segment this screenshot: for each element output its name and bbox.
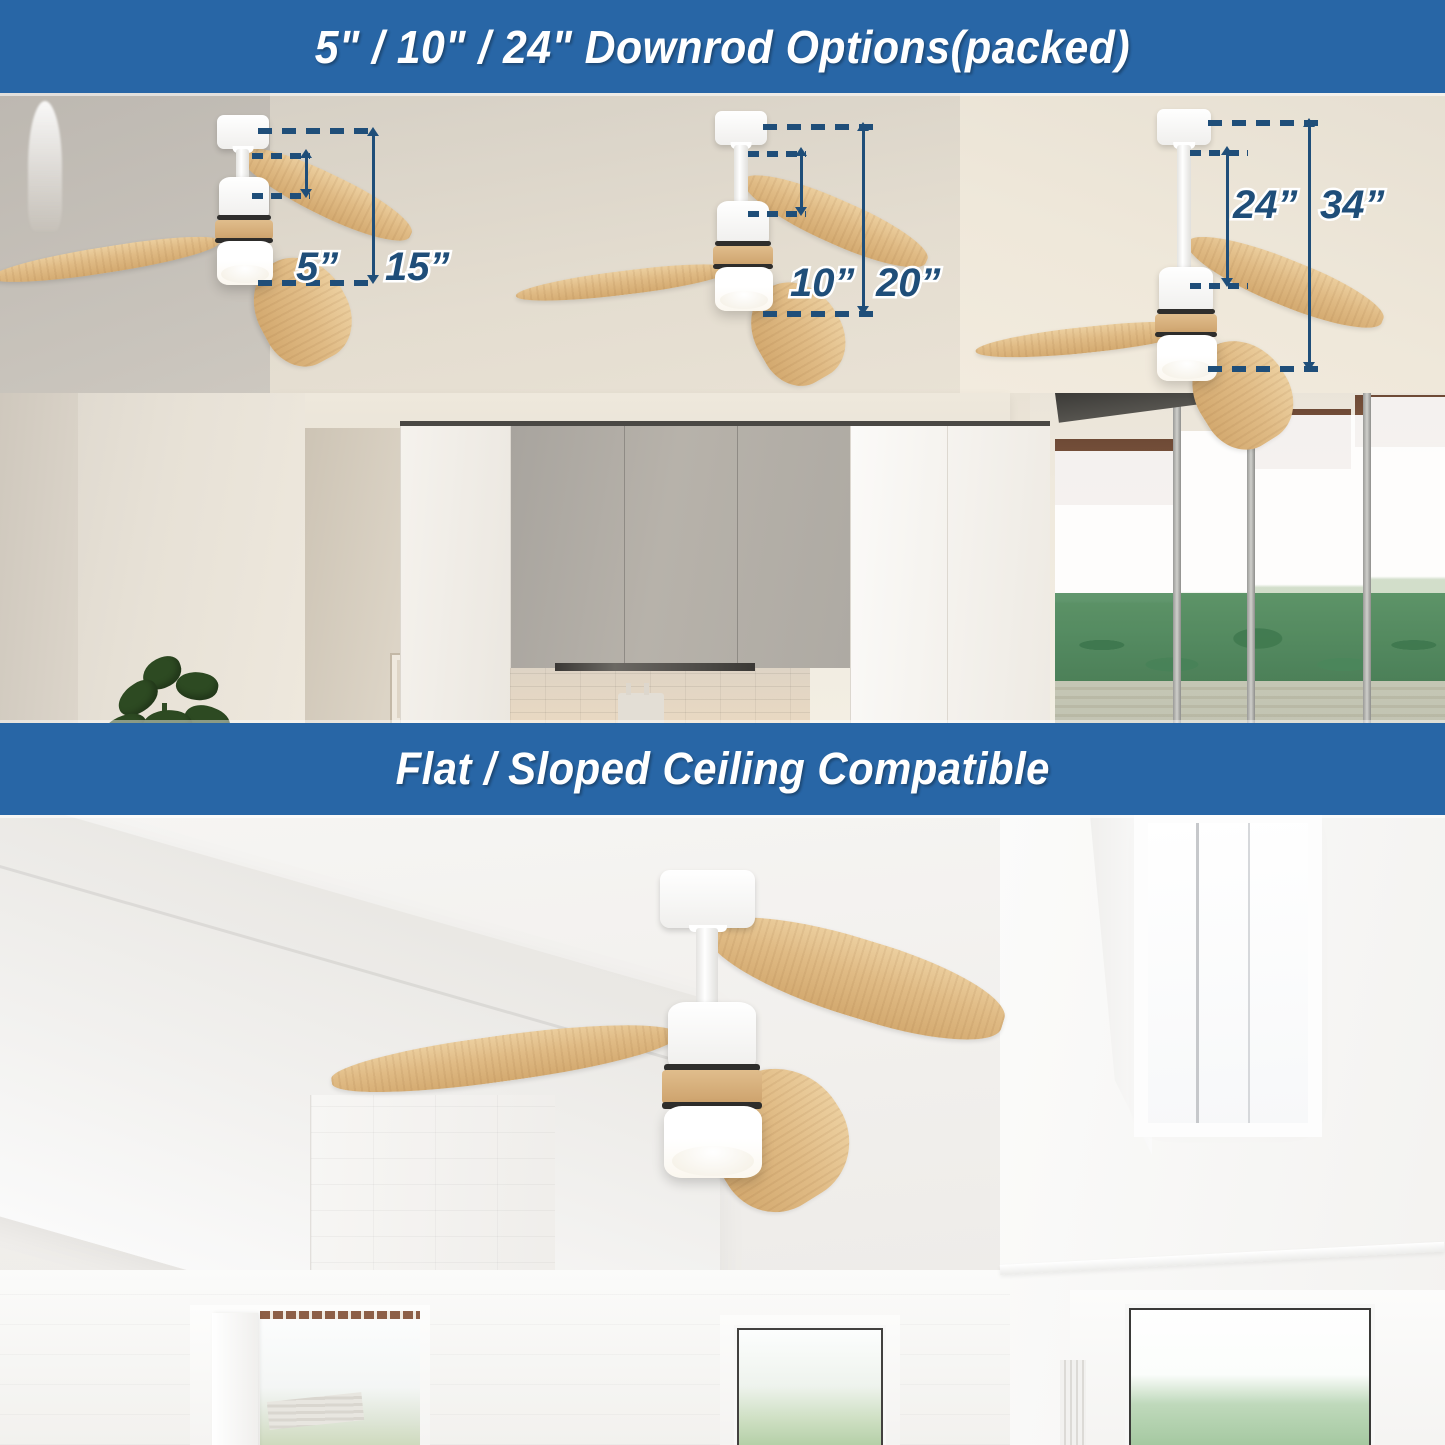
- dim-label-5: 5”: [296, 245, 338, 290]
- dim-line-10: [800, 151, 803, 213]
- center-glass-door: [720, 1315, 900, 1445]
- fan-downrod-5: [195, 115, 525, 335]
- led-light-kit: [715, 267, 773, 311]
- cabinet-top-shadow: [400, 421, 1050, 426]
- dim-line-15: [372, 131, 375, 281]
- motor-housing: [668, 1002, 756, 1072]
- ceiling-canopy: [715, 111, 767, 145]
- dim-line-24: [1226, 150, 1229, 284]
- dim-guide-top-5: [258, 128, 376, 134]
- back-wall-shadow: [0, 393, 78, 723]
- cabinet-white-left: [400, 423, 510, 723]
- doorway-opening: [305, 428, 400, 723]
- cabinet-grey-upper: [510, 423, 850, 668]
- kitchen-tap: [618, 693, 664, 723]
- middle-banner: Flat / Sloped Ceiling Compatible: [0, 723, 1445, 815]
- dim-label-24: 24”: [1233, 183, 1298, 228]
- downrod: [1177, 145, 1191, 273]
- wood-hub: [1155, 314, 1217, 334]
- wood-hub: [713, 246, 773, 266]
- downrod: [734, 145, 748, 207]
- led-light-kit: [1157, 335, 1217, 381]
- motor-housing: [1159, 267, 1213, 315]
- clerestory-window: [1148, 823, 1308, 1123]
- dim-guide-rod-bot-24: [1190, 283, 1248, 289]
- middle-banner-title: Flat / Sloped Ceiling Compatible: [395, 743, 1049, 795]
- dim-label-15: 15”: [385, 245, 450, 290]
- wood-hub: [215, 220, 273, 240]
- cabinet-white-right: [850, 423, 1050, 723]
- wall-radiator: [1060, 1360, 1086, 1445]
- dim-line-34: [1308, 122, 1311, 368]
- dim-guide-rod-top-24: [1190, 150, 1248, 156]
- ceiling-canopy: [1157, 109, 1211, 145]
- top-banner-title: 5" / 10" / 24" Downrod Options(packed): [315, 20, 1130, 74]
- product-infographic: 5" / 10" / 24" Downrod Options(packed): [0, 0, 1445, 1445]
- wood-hub: [662, 1070, 762, 1104]
- dim-line-20: [862, 126, 865, 312]
- fan-downrod-10: [695, 111, 1025, 361]
- sloped-ceiling-scene: Inclination angle≤17.5°: [0, 815, 1445, 1445]
- dim-label-10: 10”: [790, 261, 855, 306]
- wall-decor-branch: [28, 101, 62, 231]
- flat-ceiling-scene: 5” 15” 10” 20”: [0, 93, 1445, 723]
- dim-label-20: 20”: [876, 261, 941, 306]
- ceiling-canopy: [660, 870, 755, 928]
- led-light-kit: [217, 241, 273, 285]
- downrod: [696, 928, 718, 1010]
- sloped-mount-fan: [630, 870, 1050, 1200]
- led-light-kit: [664, 1106, 762, 1178]
- fan-downrod-24: [1135, 109, 1445, 439]
- dim-label-34: 34”: [1320, 183, 1385, 228]
- right-sliding-door: [1070, 1290, 1445, 1445]
- under-cabinet-light: [555, 663, 755, 671]
- potted-plant: [80, 658, 255, 723]
- left-glass-door: [190, 1305, 430, 1445]
- top-banner: 5" / 10" / 24" Downrod Options(packed): [0, 0, 1445, 93]
